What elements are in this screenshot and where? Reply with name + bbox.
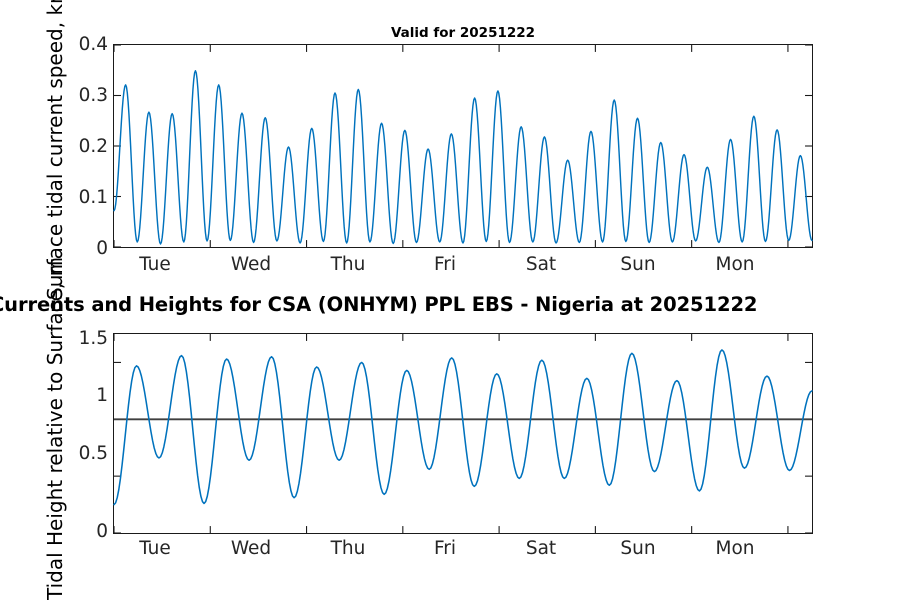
lower-plot-canvas — [114, 334, 812, 533]
lower-plot-axes — [113, 333, 813, 534]
lower-xtick-mon: Mon — [690, 538, 780, 559]
upper-xtick-sat: Sat — [496, 254, 586, 275]
upper-xtick-mon: Mon — [690, 254, 780, 275]
upper-chart-title: Valid for 20251222 — [113, 25, 813, 41]
lower-xtick-fri: Fri — [400, 538, 490, 559]
upper-xtick-fri: Fri — [400, 254, 490, 275]
lower-xtick-tue: Tue — [110, 538, 200, 559]
figure-suptitle-text: Tidal Currents and Heights for CSA (ONHY… — [0, 292, 757, 318]
upper-xtick-sun: Sun — [593, 254, 683, 275]
lower-xtick-wed: Wed — [206, 538, 296, 559]
lower-xtick-sun: Sun — [593, 538, 683, 559]
figure-suptitle: Tidal Currents and Heights for CSA (ONHY… — [0, 292, 900, 318]
upper-xtick-tue: Tue — [110, 254, 200, 275]
lower-xtick-thu: Thu — [303, 538, 393, 559]
upper-plot-canvas — [114, 45, 812, 247]
lower-xtick-sat: Sat — [496, 538, 586, 559]
tidal-figure: Valid for 20251222 0.4 0.3 0.2 0.1 0 Tue… — [0, 0, 900, 600]
upper-xtick-wed: Wed — [206, 254, 296, 275]
upper-xtick-thu: Thu — [303, 254, 393, 275]
upper-yaxis-label: Surface tidal current speed, kn — [43, 0, 67, 300]
upper-plot-axes — [113, 44, 813, 248]
